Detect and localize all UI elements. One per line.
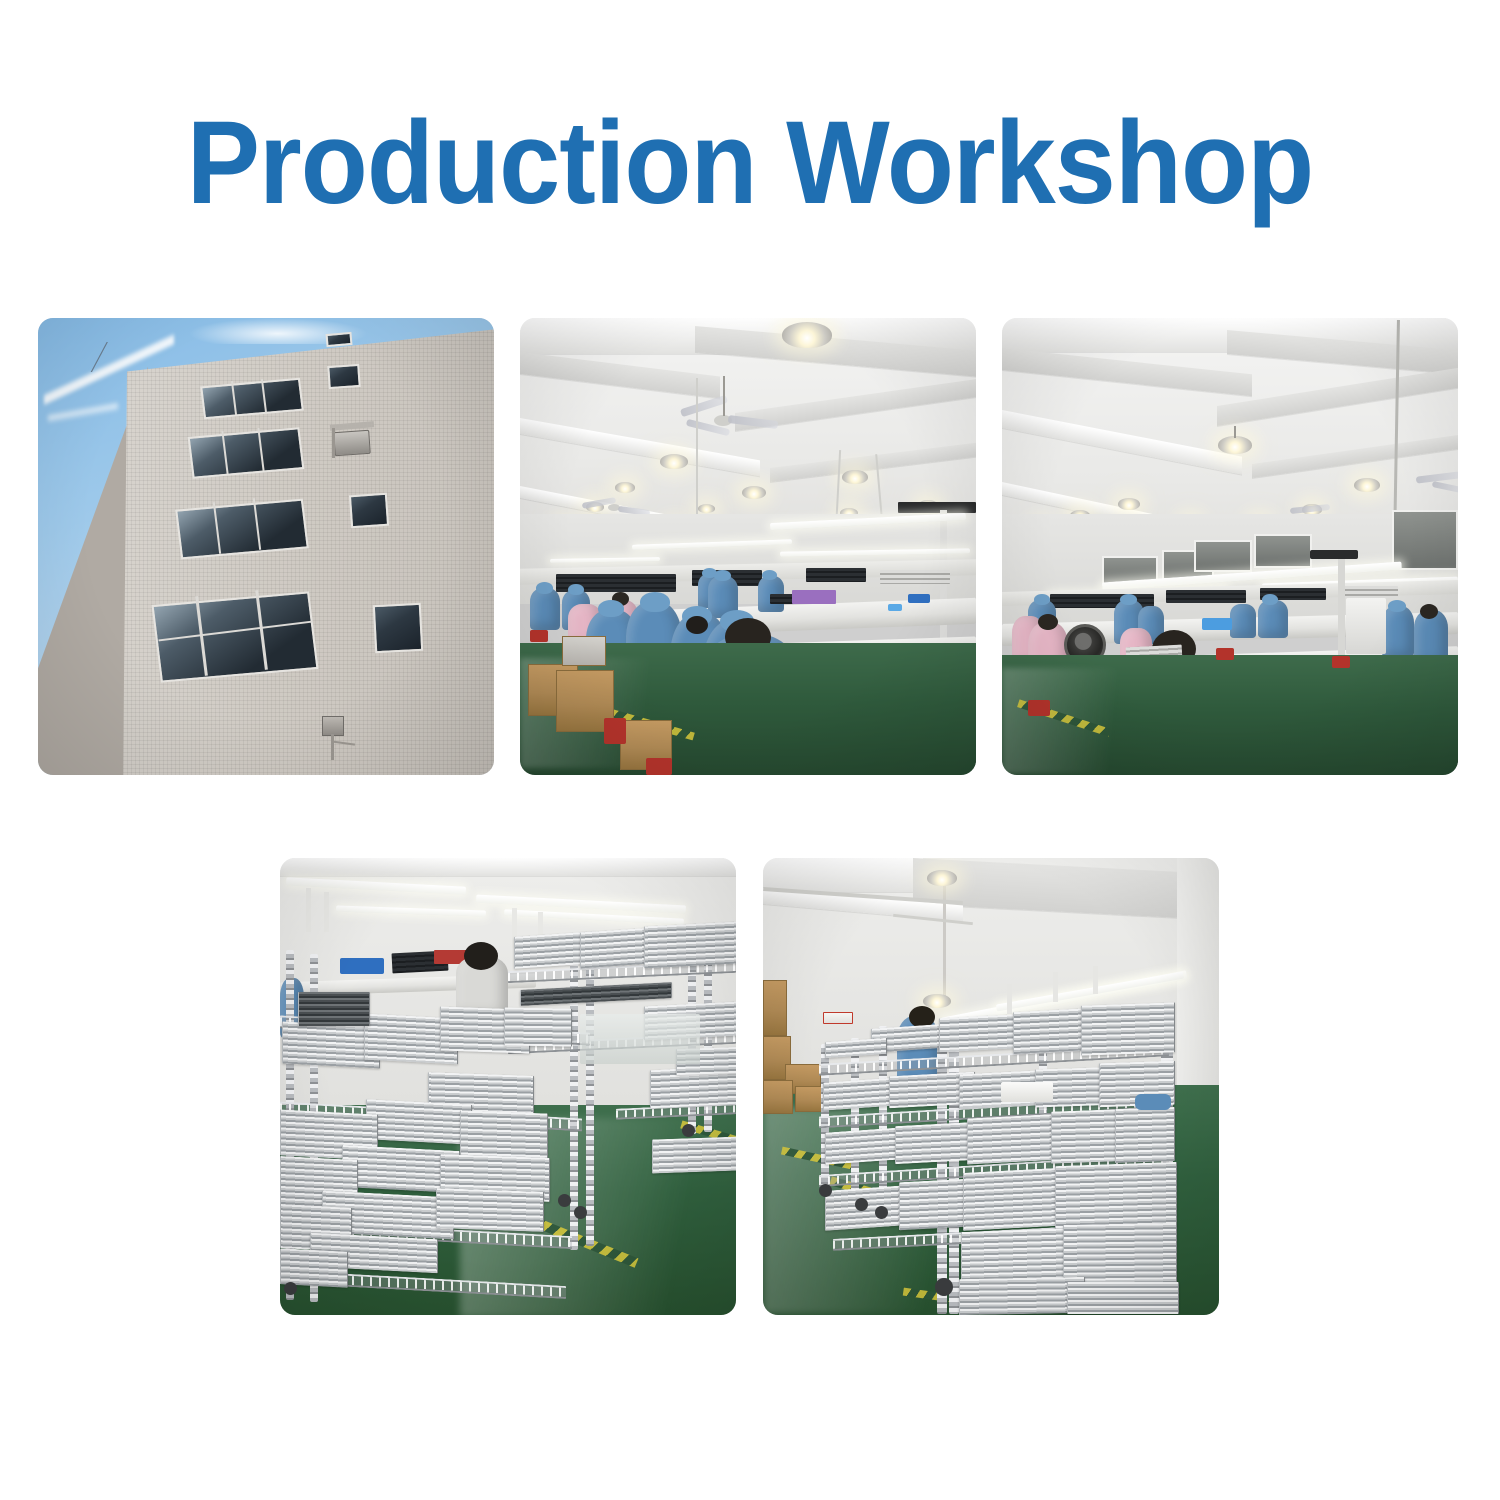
work-stool: [1216, 648, 1234, 660]
work-stool: [1028, 700, 1050, 716]
panel-stack: [366, 1099, 472, 1145]
goods-on-bench: [1166, 590, 1246, 603]
photo-storage-racks-2[interactable]: [763, 858, 1219, 1315]
pendant-lamp: [927, 870, 957, 886]
pendant-rod: [943, 880, 946, 1002]
panel-stack: [298, 992, 370, 1026]
window-panel: [1392, 510, 1458, 570]
work-stool: [530, 630, 548, 642]
photo-storage-racks-1[interactable]: [280, 858, 736, 1315]
panel-stack: [1055, 1162, 1177, 1230]
panel-stack: [1081, 1002, 1175, 1055]
panel-stack: [644, 922, 736, 969]
worker-head: [1420, 604, 1438, 619]
pendant-lamp: [1118, 498, 1140, 510]
gallery-row-bottom: [280, 858, 1219, 1315]
blue-bin: [1202, 618, 1232, 630]
storage-racks-scene-1: [280, 858, 736, 1315]
worker-cap: [714, 570, 731, 581]
panel-stack: [460, 1110, 548, 1161]
panel-stack: [504, 1007, 572, 1046]
overhead-wire: [48, 342, 153, 372]
panel-stack: [652, 1136, 736, 1173]
panel-stack: [436, 1188, 544, 1232]
rack-caster: [574, 1206, 587, 1219]
blue-bin: [340, 958, 384, 974]
worker-cap: [568, 584, 584, 595]
window-panel: [1194, 540, 1252, 572]
light-hanger: [1007, 984, 1012, 1014]
worker-cap: [640, 592, 670, 612]
control-cabinet: [1346, 598, 1386, 654]
storage-racks-scene-2: [763, 858, 1219, 1315]
worker-cap: [1262, 594, 1278, 605]
light-hanger: [1053, 972, 1058, 1002]
worker-cap: [1034, 594, 1050, 605]
worker-head: [464, 942, 498, 970]
window-panel: [1254, 534, 1312, 568]
light-hanger: [1093, 966, 1098, 994]
rack-caster: [875, 1206, 888, 1219]
panel-stack: [823, 1077, 899, 1110]
assembly-line-scene: [520, 318, 976, 775]
photo-assembly-line-1[interactable]: [520, 318, 976, 775]
rack-caster: [682, 1124, 695, 1137]
panel-stack: [1115, 1107, 1175, 1163]
gallery-row-top: [38, 318, 1458, 775]
pendant-lamp: [615, 482, 635, 493]
blue-bin: [908, 594, 930, 603]
goods-on-bench: [806, 568, 866, 582]
wrapped-goods: [580, 1014, 700, 1064]
wall-notice-sign: [823, 1012, 853, 1024]
ac-pipe: [332, 428, 335, 458]
gantry-beam: [898, 502, 976, 513]
worker-cap: [598, 600, 624, 617]
ceiling-fan-rod: [723, 376, 725, 416]
worker: [1258, 600, 1288, 638]
cardboard-carton: [763, 980, 787, 1036]
pendant-lamp: [698, 504, 715, 513]
worker-cap: [536, 582, 553, 594]
covered-goods: [792, 590, 836, 604]
light-hanger: [324, 892, 329, 932]
photo-factory-building[interactable]: [38, 318, 494, 775]
page-title: Production Workshop: [53, 104, 1448, 222]
blue-bin: [888, 604, 902, 611]
worker-cap: [1120, 594, 1137, 605]
rack-caster: [558, 1194, 571, 1207]
light-hanger: [306, 888, 311, 932]
blue-glove: [1135, 1094, 1171, 1110]
pendant-lamp: [1218, 436, 1252, 454]
window: [373, 603, 423, 653]
pendant-lamp: [1354, 478, 1380, 492]
window: [325, 332, 352, 347]
rack-caster: [819, 1184, 832, 1197]
gantry-beam: [1310, 550, 1358, 559]
panel-stack: [580, 927, 654, 968]
rack-caster: [855, 1198, 868, 1211]
pendant-rod: [1234, 426, 1236, 438]
work-stool: [646, 758, 672, 775]
worker: [1230, 604, 1256, 638]
worker: [530, 588, 560, 630]
white-tray: [1001, 1082, 1053, 1102]
wall-mounted-box: [322, 716, 344, 736]
worker: [1382, 606, 1414, 658]
photo-assembly-line-2[interactable]: [1002, 318, 1458, 775]
worker-cap: [762, 570, 777, 580]
panel-stack: [1067, 1282, 1179, 1314]
worker-head: [1038, 614, 1058, 630]
window: [349, 493, 389, 529]
factory-building-scene: [38, 318, 494, 775]
work-stool: [1332, 656, 1350, 668]
pendant-lamp: [782, 322, 832, 348]
rack-caster: [935, 1278, 953, 1296]
goods-on-bench: [880, 570, 950, 584]
ceiling-beam: [763, 858, 923, 892]
window: [327, 364, 361, 389]
rack-caster: [284, 1282, 297, 1295]
pendant-lamp: [660, 454, 688, 469]
ceiling-beam: [280, 858, 736, 876]
panel-stack: [895, 1122, 977, 1164]
work-stool: [604, 718, 626, 744]
bucket: [562, 636, 606, 666]
building-front-wall: [123, 326, 494, 775]
cardboard-carton: [763, 1080, 793, 1114]
pendant-lamp: [923, 994, 951, 1008]
contrail-secondary: [48, 358, 118, 468]
workshop-overview-scene: [1002, 318, 1458, 775]
worker-cap: [1388, 600, 1406, 612]
goods-on-bench: [1338, 586, 1398, 598]
wall-conduit: [331, 734, 334, 760]
panel-stack: [825, 1127, 903, 1164]
worker-head: [686, 616, 708, 634]
pendant-lamp: [742, 486, 766, 499]
pendant-lamp: [842, 470, 868, 484]
air-conditioner-unit: [333, 430, 371, 456]
